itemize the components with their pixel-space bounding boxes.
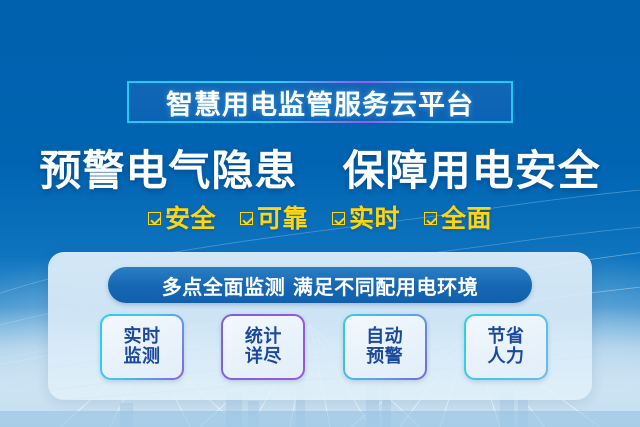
headline-part-2: 保障用电安全 [343, 146, 601, 195]
feature-card-line-1: 统计 [245, 327, 282, 347]
checkbox-checked-icon [148, 212, 161, 225]
checkbox-checked-icon [424, 212, 437, 225]
panel-banner-pill: 多点全面监测 满足不同配用电环境 [108, 267, 532, 303]
poster-canvas: 智慧用电监管服务云平台 预警电气隐患 保障用电安全 安全 可靠 实时 全面 [0, 0, 640, 427]
checkbox-checked-icon [332, 212, 345, 225]
feature-card-row: 实时 监测 统计 详尽 自动 预警 节省 人力 [100, 314, 548, 382]
feature-card-line-2: 预警 [366, 347, 403, 367]
feature-card-line-1: 实时 [124, 327, 161, 347]
headline-part-1: 预警电气隐患 [39, 146, 297, 195]
feature-card-line-2: 人力 [487, 347, 524, 367]
platform-title-chip: 智慧用电监管服务云平台 [127, 81, 513, 123]
feature-card-auto-alarm[interactable]: 自动 预警 [343, 314, 427, 380]
feature-tick-item-3: 实时 [332, 199, 400, 235]
panel-banner-text-1: 多点全面监测 [162, 271, 286, 300]
feature-card-line-2: 监测 [124, 347, 161, 367]
feature-card-detailed-statistics[interactable]: 统计 详尽 [221, 314, 305, 380]
feature-tick-item-4: 全面 [424, 199, 492, 235]
feature-tick-label: 实时 [349, 199, 400, 235]
feature-tick-row: 安全 可靠 实时 全面 [0, 199, 640, 235]
feature-tick-label: 可靠 [257, 199, 308, 235]
feature-tick-label: 安全 [165, 199, 216, 235]
feature-card-realtime-monitoring[interactable]: 实时 监测 [100, 314, 184, 380]
feature-tick-item-1: 安全 [148, 199, 216, 235]
feature-card-inner: 实时 监测 [102, 316, 182, 378]
feature-card-inner: 节省 人力 [466, 316, 546, 378]
panel-banner-gap [285, 273, 293, 297]
panel-banner-text-2: 满足不同配用电环境 [293, 271, 478, 300]
checkbox-checked-icon [240, 212, 253, 225]
feature-card-save-manpower[interactable]: 节省 人力 [464, 314, 548, 380]
feature-card-line-2: 详尽 [245, 347, 282, 367]
feature-card-line-1: 节省 [487, 327, 524, 347]
page-title: 预警电气隐患 保障用电安全 [0, 137, 640, 198]
feature-card-inner: 自动 预警 [345, 316, 425, 378]
platform-title-text: 智慧用电监管服务云平台 [166, 83, 474, 122]
feature-tick-label: 全面 [441, 199, 492, 235]
feature-tick-item-2: 可靠 [240, 199, 308, 235]
feature-card-line-1: 自动 [366, 327, 403, 347]
feature-card-inner: 统计 详尽 [223, 316, 303, 378]
